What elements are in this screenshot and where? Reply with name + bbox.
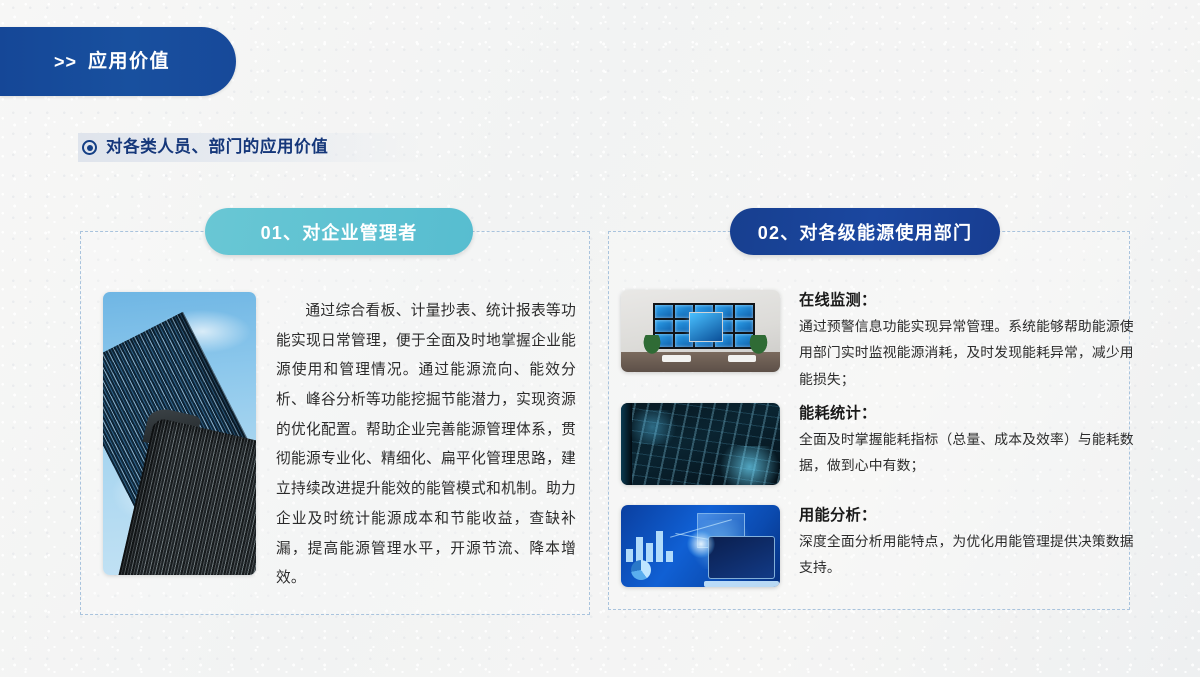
card-title-label-02: 02、对各级能源使用部门 [758, 219, 972, 245]
bar-chart-icon [626, 530, 673, 563]
pie-chart-icon [631, 560, 651, 580]
desk-shape [662, 355, 691, 362]
list-item: 在线监测： 通过预警信息功能实现异常管理。系统能够帮助能源使用部门实时监视能源消… [621, 290, 1137, 394]
item-body: 深度全面分析用能特点，为优化用能管理提供决策数据支持。 [799, 529, 1137, 582]
glowing-keyboard-photo [621, 403, 780, 485]
blue-glow-shape [624, 410, 681, 444]
page-banner: >> 应用价值 [0, 27, 236, 96]
skyscrapers-photo [103, 292, 256, 575]
network-node-icon [687, 530, 715, 558]
item-body: 全面及时掌握能耗指标（总量、成本及效率）与能耗数据，做到心中有数； [799, 427, 1137, 480]
item-heading: 用能分析： [799, 505, 1137, 528]
item-body: 通过预警信息功能实现异常管理。系统能够帮助能源使用部门实时监视能源消耗，及时发现… [799, 314, 1137, 394]
plant-icon [642, 335, 663, 356]
control-room-video-wall-photo [621, 290, 780, 372]
enterprise-managers-paragraph: 通过综合看板、计量抄表、统计报表等功能实现日常管理，便于全面及时地掌握企业能源使… [276, 297, 576, 594]
plant-icon [748, 335, 769, 356]
laptop-icon [708, 536, 775, 579]
banner-chevrons-icon: >> [54, 53, 77, 71]
main-display-screen [689, 312, 722, 342]
card-title-pill-02: 02、对各级能源使用部门 [730, 208, 1000, 255]
banner-title: 应用价值 [88, 52, 170, 71]
desk-shape [728, 355, 757, 362]
list-item: 用能分析： 深度全面分析用能特点，为优化用能管理提供决策数据支持。 [621, 505, 1137, 582]
card-title-label-01: 01、对企业管理者 [261, 219, 418, 245]
section-heading: 对各类人员、部门的应用价值 [82, 134, 328, 161]
bullseye-icon [82, 140, 97, 155]
item-heading: 能耗统计： [799, 403, 1137, 426]
blue-glow-shape [713, 446, 780, 485]
card-title-pill-01: 01、对企业管理者 [205, 208, 473, 255]
data-analytics-dashboard-photo [621, 505, 780, 587]
section-title: 对各类人员、部门的应用价值 [106, 139, 328, 156]
list-item: 能耗统计： 全面及时掌握能耗指标（总量、成本及效率）与能耗数据，做到心中有数； [621, 403, 1137, 480]
item-heading: 在线监测： [799, 290, 1137, 313]
